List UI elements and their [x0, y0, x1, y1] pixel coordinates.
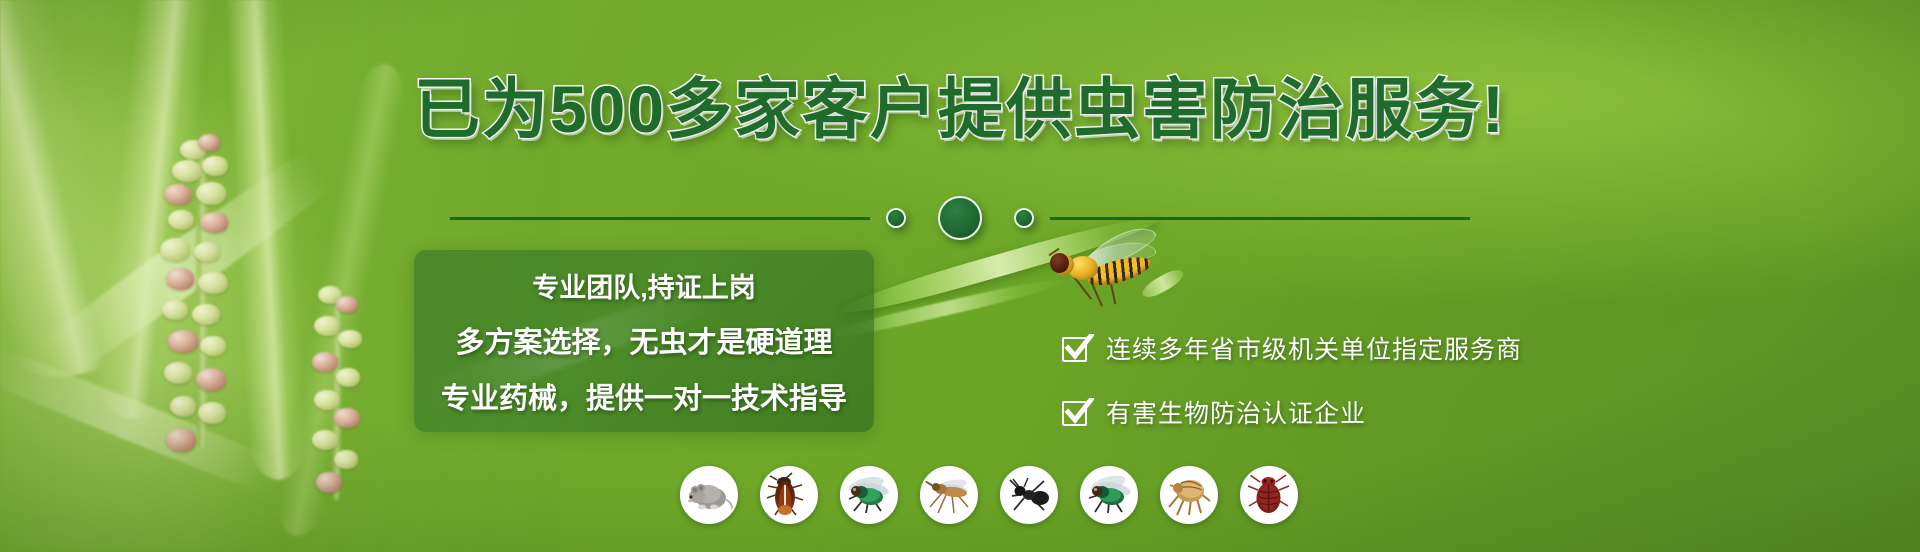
banner-headline: 已为500多家客户提供虫害防治服务! [0, 72, 1920, 146]
checklist-item-label: 有害生物防治认证企业 [1106, 394, 1366, 430]
checklist-item-label: 连续多年省市级机关单位指定服务商 [1106, 330, 1522, 366]
checkbox-checked-icon [1062, 334, 1090, 362]
housefly-icon[interactable] [1080, 466, 1138, 524]
ant-icon[interactable] [1000, 466, 1058, 524]
banner-headline-text: 已为500多家客户提供虫害防治服务! [414, 72, 1506, 146]
checkbox-checked-icon [1062, 398, 1090, 426]
bedbug-icon[interactable] [1240, 466, 1298, 524]
credentials-checklist: 连续多年省市级机关单位指定服务商 有害生物防治认证企业 [1062, 330, 1522, 430]
mosquito-icon[interactable] [920, 466, 978, 524]
promo-banner: 已为500多家客户提供虫害防治服务! 专业团队,持证上岗 多方案选择，无虫才是硬… [0, 0, 1920, 552]
feature-line-3: 专业药械，提供一对一技术指导 [441, 375, 847, 417]
feature-line-1: 专业团队,持证上岗 [532, 266, 756, 305]
green-bottle-fly-icon[interactable] [840, 466, 898, 524]
feature-line-2: 多方案选择，无虫才是硬道理 [455, 319, 832, 361]
checklist-item: 有害生物防治认证企业 [1062, 394, 1522, 430]
flea-icon[interactable] [1160, 466, 1218, 524]
features-panel: 专业团队,持证上岗 多方案选择，无虫才是硬道理 专业药械，提供一对一技术指导 [414, 250, 874, 432]
rat-icon[interactable] [680, 466, 738, 524]
cockroach-icon[interactable] [760, 466, 818, 524]
pest-icon-row [680, 466, 1298, 524]
checklist-item: 连续多年省市级机关单位指定服务商 [1062, 330, 1522, 366]
